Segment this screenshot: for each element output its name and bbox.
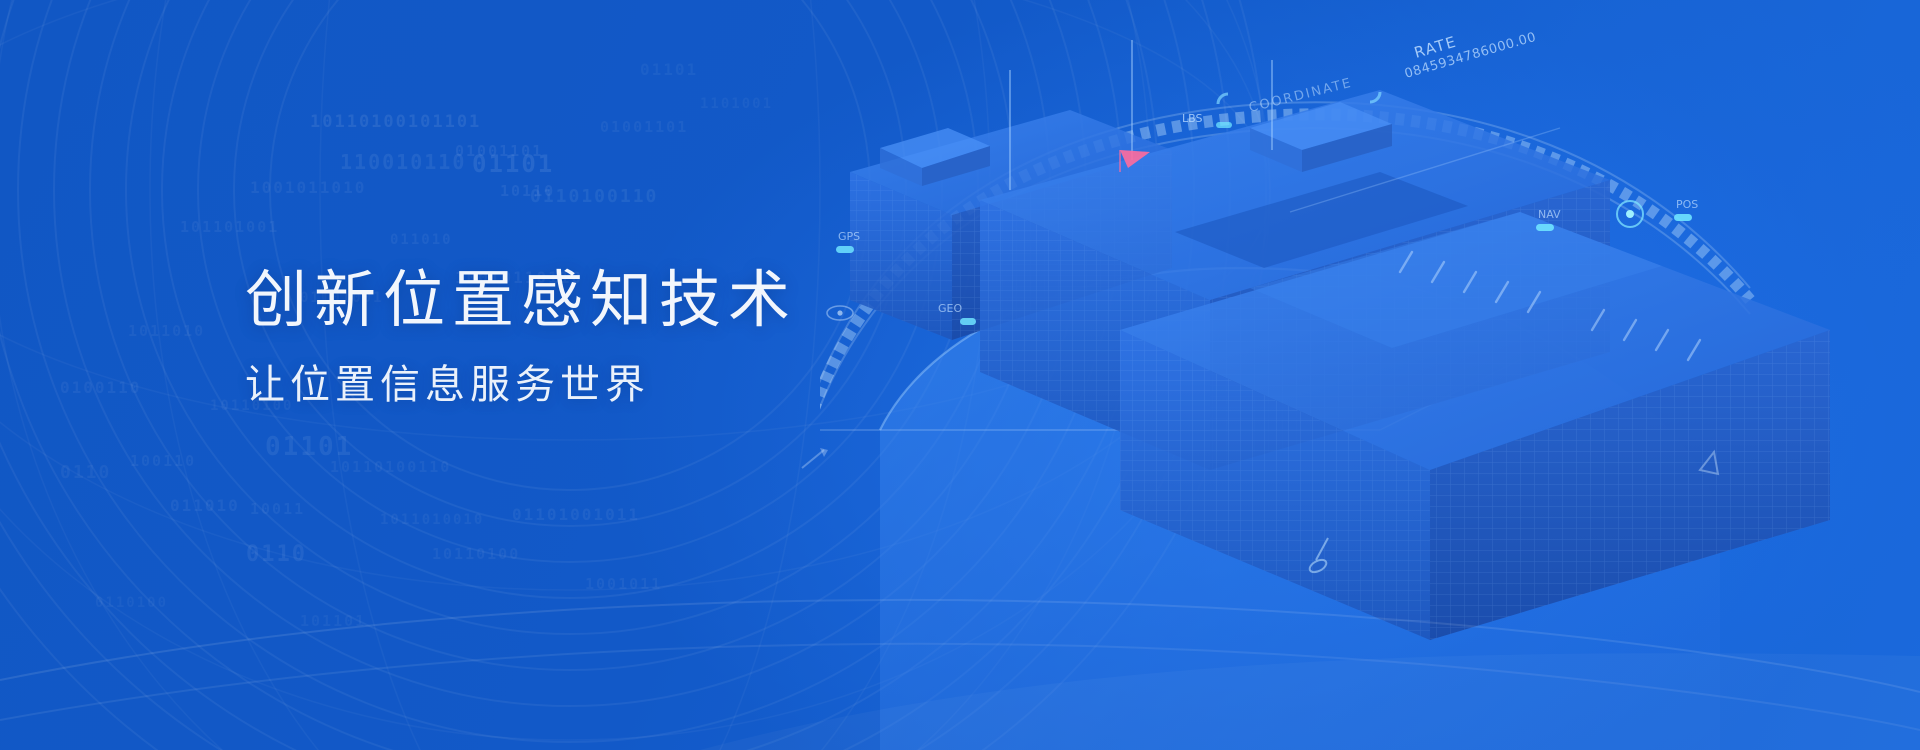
binary-text-row: 011010: [170, 496, 240, 515]
hud-coordinate-group: COORDINATE: [1216, 76, 1380, 128]
coordinate-label: COORDINATE: [1247, 76, 1354, 116]
binary-text-row: 10110100110: [330, 458, 451, 476]
binary-text-row: 10110: [500, 182, 555, 200]
svg-text:GPS: GPS: [838, 230, 860, 243]
binary-text-row: 0110: [60, 462, 111, 483]
antenna-icon: [1308, 538, 1329, 575]
binary-text-row: 0110100: [95, 595, 168, 611]
binary-text-row: 01001101: [455, 142, 543, 160]
compass-icon: [1700, 452, 1718, 474]
binary-text-row: 0110100110: [530, 186, 658, 207]
binary-text-row: 01101: [640, 60, 698, 79]
binary-text-row: 1001011: [585, 575, 662, 593]
binary-text-row: 1011010: [128, 322, 205, 340]
hud-marker-5: POS: [1674, 198, 1698, 221]
binary-text-row: 1001011010: [250, 178, 366, 197]
binary-text-row: 10110100: [432, 545, 520, 563]
svg-text:POS: POS: [1676, 198, 1698, 211]
binary-text-row: 0100110: [60, 378, 141, 397]
binary-text-row: 1101001: [700, 96, 773, 112]
banner-copy: 创新位置感知技术 让位置信息服务世界: [245, 262, 1065, 412]
binary-text-row: 01101001011: [512, 505, 640, 524]
hud-rate-group: RATE 0845934786000.00: [1403, 30, 1538, 82]
page-subtitle: 让位置信息服务世界: [245, 358, 1065, 412]
binary-text-row: 0110: [246, 542, 307, 567]
signal-arrow-icon: [790, 440, 850, 480]
hero-banner: 1011010010110101001101110010110011011001…: [0, 0, 1920, 750]
binary-text-row: 110010110: [340, 150, 466, 174]
binary-text-row: 10011: [250, 500, 305, 518]
binary-text-row: 01101: [472, 150, 554, 178]
rate-value: 0845934786000.00: [1403, 30, 1538, 82]
hud-marker-1: LBS: [1182, 112, 1202, 125]
radar-reticle-right: [1617, 201, 1643, 227]
binary-text-row: 01001101: [600, 118, 688, 136]
binary-text-row: 10110100101101: [310, 112, 481, 132]
hud-marker-2: GPS: [836, 230, 860, 253]
svg-text:NAV: NAV: [1538, 208, 1561, 221]
binary-text-row: 101101001: [180, 218, 279, 236]
marker-flag-pink: [1120, 150, 1150, 172]
binary-text-row: 100110: [130, 452, 196, 470]
rate-label: RATE: [1412, 33, 1459, 62]
binary-text-row: 01101: [265, 432, 353, 462]
page-title: 创新位置感知技术: [245, 262, 1065, 340]
binary-text-row: 101101: [300, 612, 366, 630]
hud-marker-4: NAV: [1536, 208, 1561, 231]
bottom-wave-lines: [0, 430, 1920, 750]
binary-text-row: 011010: [390, 232, 453, 248]
svg-text:LBS: LBS: [1182, 112, 1202, 125]
binary-text-row: 1011010010: [380, 512, 484, 528]
